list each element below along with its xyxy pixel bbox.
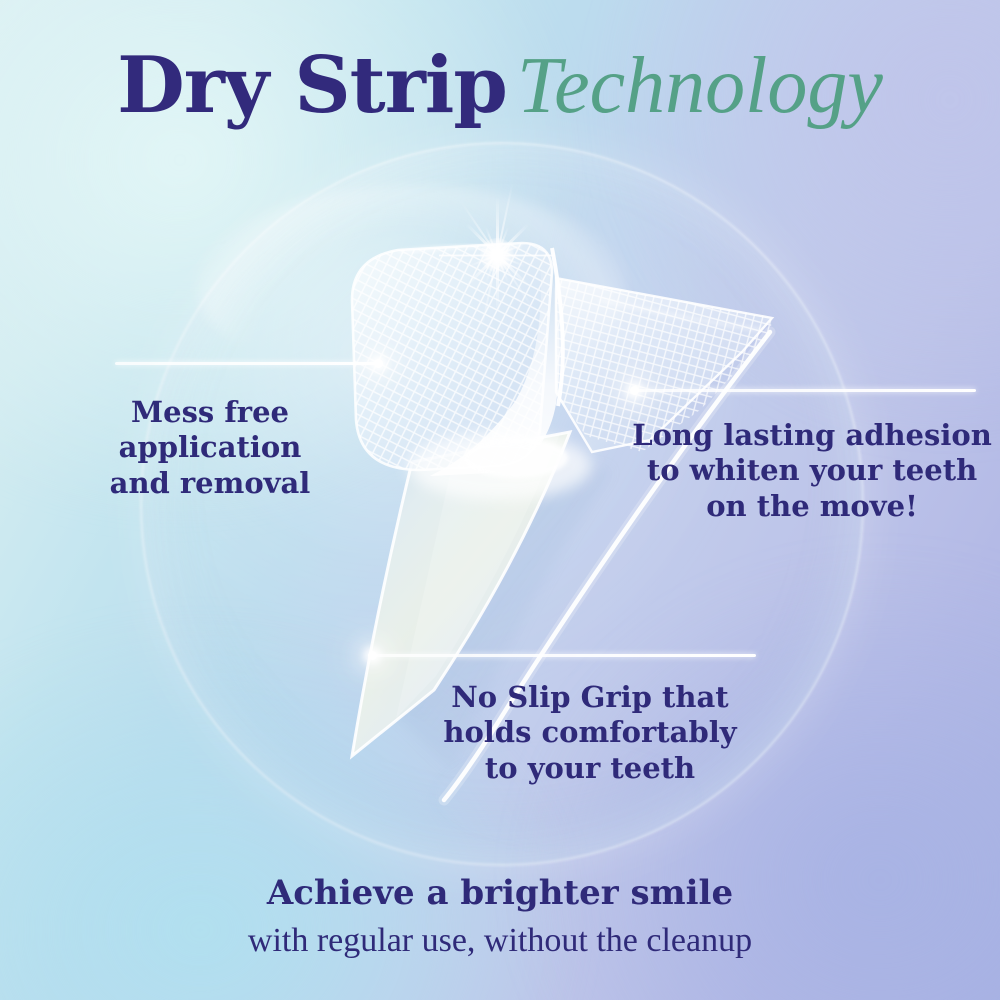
leader-dot-no-slip-grip	[368, 651, 377, 660]
infographic-poster: Dry StripTechnology Mess free applicatio…	[0, 0, 1000, 1000]
leader-dot-mess-free	[374, 359, 383, 368]
background-bubble-top-right	[800, 120, 1000, 350]
callout-long-lasting-line-1: Long lasting adhesion	[632, 418, 992, 453]
callout-mess-free-line-1: Mess free	[60, 395, 360, 430]
leader-dot-long-lasting	[630, 386, 639, 395]
title-bold-part: Dry Strip	[117, 40, 507, 131]
callout-no-slip-grip-line-3: to your teeth	[420, 751, 760, 786]
callout-long-lasting-line-3: on the move!	[632, 489, 992, 524]
callout-no-slip-grip: No Slip Grip that holds comfortably to y…	[420, 680, 760, 786]
page-title: Dry StripTechnology	[0, 46, 1000, 126]
footer-line-1: Achieve a brighter smile	[0, 872, 1000, 915]
leader-line-mess-free	[115, 362, 378, 365]
callout-mess-free: Mess free application and removal	[60, 395, 360, 501]
title-italic-part: Technology	[517, 42, 883, 130]
footer-line-2: with regular use, without the cleanup	[0, 919, 1000, 963]
callout-mess-free-line-2: application	[60, 430, 360, 465]
callout-no-slip-grip-line-2: holds comfortably	[420, 715, 760, 750]
leader-line-long-lasting	[634, 389, 976, 392]
callout-long-lasting-line-2: to whiten your teeth	[632, 453, 992, 488]
bubble-highlight	[196, 186, 626, 386]
callout-mess-free-line-3: and removal	[60, 466, 360, 501]
leader-line-no-slip-grip	[372, 654, 756, 657]
callout-long-lasting-adhesion: Long lasting adhesion to whiten your tee…	[632, 418, 992, 524]
callout-no-slip-grip-line-1: No Slip Grip that	[420, 680, 760, 715]
footer-tagline: Achieve a brighter smile with regular us…	[0, 872, 1000, 963]
